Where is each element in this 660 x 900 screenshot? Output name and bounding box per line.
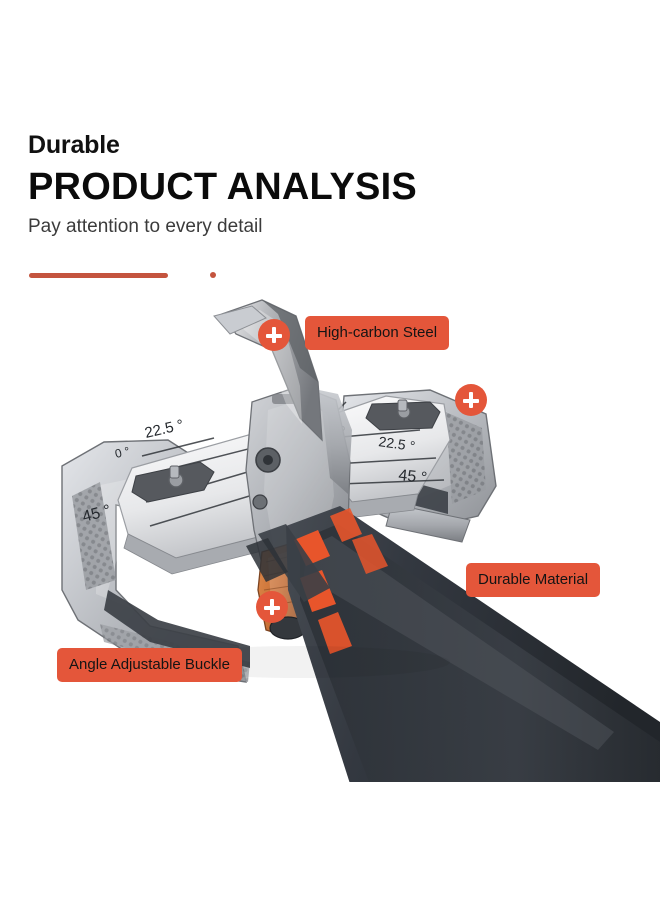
accent-dot bbox=[210, 272, 216, 278]
header-subtitle: Pay attention to every detail bbox=[28, 216, 548, 239]
accent-rule bbox=[29, 273, 168, 278]
callout-angle-adjustable-buckle[interactable]: Angle Adjustable Buckle bbox=[57, 648, 242, 682]
page-title: PRODUCT ANALYSIS bbox=[28, 166, 548, 209]
callout-durable-material[interactable]: Durable Material bbox=[466, 563, 600, 597]
header-eyebrow: Durable bbox=[28, 132, 548, 160]
header-block: Durable PRODUCT ANALYSIS Pay attention t… bbox=[28, 132, 548, 239]
callout-high-carbon-steel[interactable]: High-carbon Steel bbox=[305, 316, 449, 350]
gauge-label-22-5-left: 22.5 ° bbox=[143, 416, 185, 441]
divider bbox=[29, 271, 229, 281]
product-analysis-page: Durable PRODUCT ANALYSIS Pay attention t… bbox=[0, 0, 660, 900]
plus-circle-icon[interactable] bbox=[258, 319, 290, 351]
miter-shears-photo: 22.5 ° 0 ° 45 ° bbox=[0, 290, 660, 790]
right-clamp-shoe bbox=[366, 400, 440, 430]
gauge-label-45-right: 45 ° bbox=[398, 467, 428, 487]
plus-circle-icon[interactable] bbox=[256, 591, 288, 623]
plus-circle-icon[interactable] bbox=[455, 384, 487, 416]
